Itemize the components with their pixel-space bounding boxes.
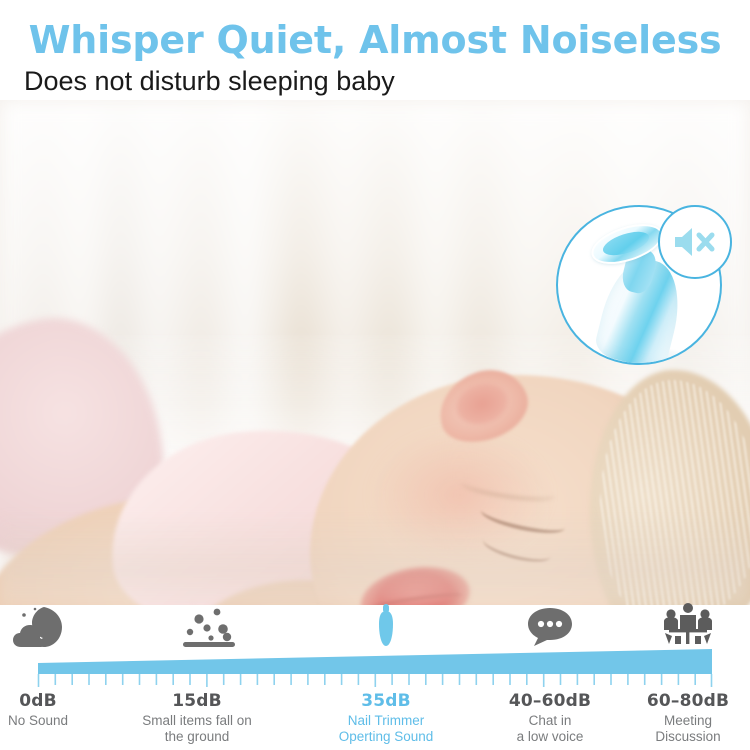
scale-value: 0dB [0, 691, 123, 711]
scale-value: 35dB [301, 691, 471, 711]
scale-ticks [39, 674, 712, 687]
page-title: Whisper Quiet, Almost Noiseless [0, 18, 750, 62]
header: Whisper Quiet, Almost Noiseless Does not… [0, 0, 750, 100]
scale-wedge [38, 649, 712, 674]
scale-desc: MeetingDiscussion [603, 713, 750, 744]
scale-bar [0, 645, 750, 691]
scale-labels: 0dB No Sound 15dB Small items fall onthe… [0, 691, 750, 750]
scale-bar-svg [0, 645, 750, 691]
sleeping-baby-photo [0, 100, 750, 605]
scale-label-0db: 0dB No Sound [0, 691, 123, 729]
scale-value: 60–80dB [603, 691, 750, 711]
scale-desc: No Sound [0, 713, 123, 729]
scale-desc: Nail TrimmerOperting Sound [301, 713, 471, 744]
speaker-mute-icon [672, 225, 718, 259]
scale-value: 15dB [112, 691, 282, 711]
scale-label-15db: 15dB Small items fall onthe ground [112, 691, 282, 744]
page-subtitle: Does not disturb sleeping baby [24, 66, 395, 97]
scale-desc: Small items fall onthe ground [112, 713, 282, 744]
product-infographic: Whisper Quiet, Almost Noiseless Does not… [0, 0, 750, 750]
scale-label-35db: 35dB Nail TrimmerOperting Sound [301, 691, 471, 744]
mute-badge [658, 205, 732, 279]
noise-level-scale: 0dB No Sound 15dB Small items fall onthe… [0, 605, 750, 750]
bed-shadow [0, 515, 750, 605]
product-badge [556, 205, 732, 365]
scale-label-60-80db: 60–80dB MeetingDiscussion [603, 691, 750, 744]
